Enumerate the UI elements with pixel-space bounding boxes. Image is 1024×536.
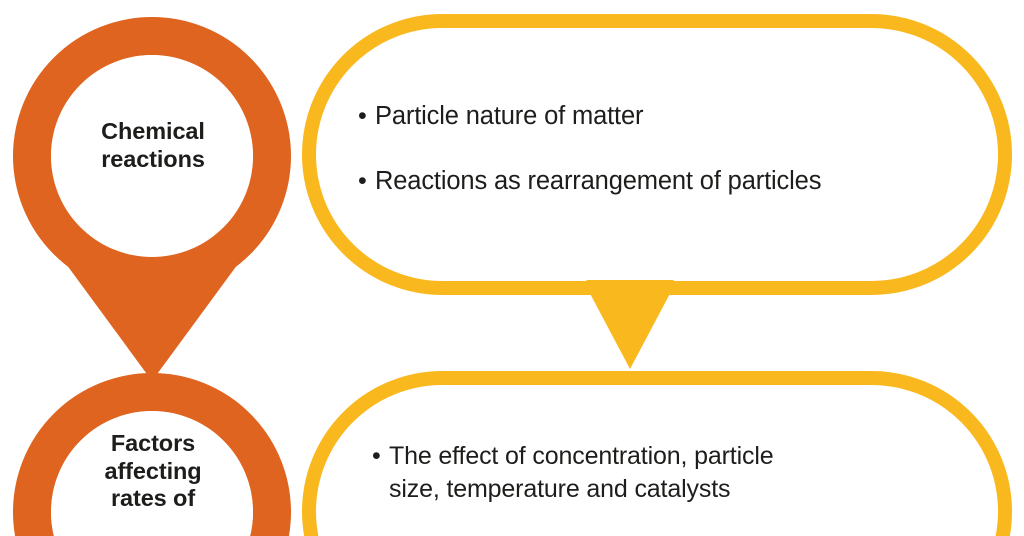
yellow-connector-triangle-top [586,286,674,369]
orange-ring-top-inner-fill [51,55,253,257]
diagram-canvas: Chemical reactions Factors affecting rat… [0,0,1024,536]
list-item-text: Reactions as rearrangement of particles [375,165,958,198]
panel-bottom-bullet-list: • The effect of concentration, particle … [372,440,932,505]
list-item-text-line-1: The effect of concentration, particle [389,442,774,470]
list-item-text-line-2: size, temperature and catalysts [389,475,730,503]
yellow-triangle-merge-top [586,280,674,292]
list-item: • Particle nature of matter [358,100,958,133]
list-item: • Reactions as rearrangement of particle… [358,165,958,198]
bullet-marker-icon: • [372,440,389,472]
bullet-marker-icon: • [358,165,375,197]
list-item-text: The effect of concentration, particle si… [389,440,932,505]
list-item-text: Particle nature of matter [375,100,958,133]
node-chemical-reactions-shape[interactable] [32,36,272,381]
panel-top-bullet-list: • Particle nature of matter • Reactions … [358,100,958,197]
node-factors-shape[interactable] [32,392,272,536]
bullet-marker-icon: • [358,100,375,132]
list-item: • The effect of concentration, particle … [372,440,932,505]
